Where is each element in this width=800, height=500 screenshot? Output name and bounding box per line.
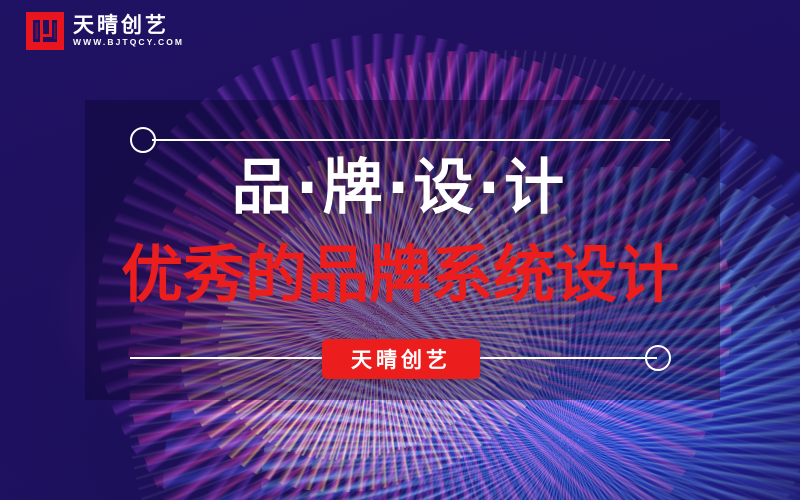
- brand-logo[interactable]: 天晴创艺 WWW.BJTQCY.COM: [26, 12, 184, 50]
- tianqing-square-logo-icon: [26, 12, 64, 50]
- brand-name: 天晴创艺: [73, 15, 184, 36]
- horizontal-rule-top: [152, 139, 670, 141]
- circle-outline-icon-bottom-right: [645, 345, 671, 371]
- brand-badge[interactable]: 天晴创艺: [322, 339, 480, 379]
- brand-website: WWW.BJTQCY.COM: [73, 38, 184, 47]
- brand-logo-text: 天晴创艺 WWW.BJTQCY.COM: [73, 15, 184, 47]
- promo-banner: 天晴创艺 WWW.BJTQCY.COM 品·牌·设·计 优秀的品牌系统设计 天晴…: [0, 0, 800, 500]
- page-subtitle: 优秀的品牌系统设计: [0, 244, 800, 306]
- page-title: 品·牌·设·计: [0, 158, 800, 218]
